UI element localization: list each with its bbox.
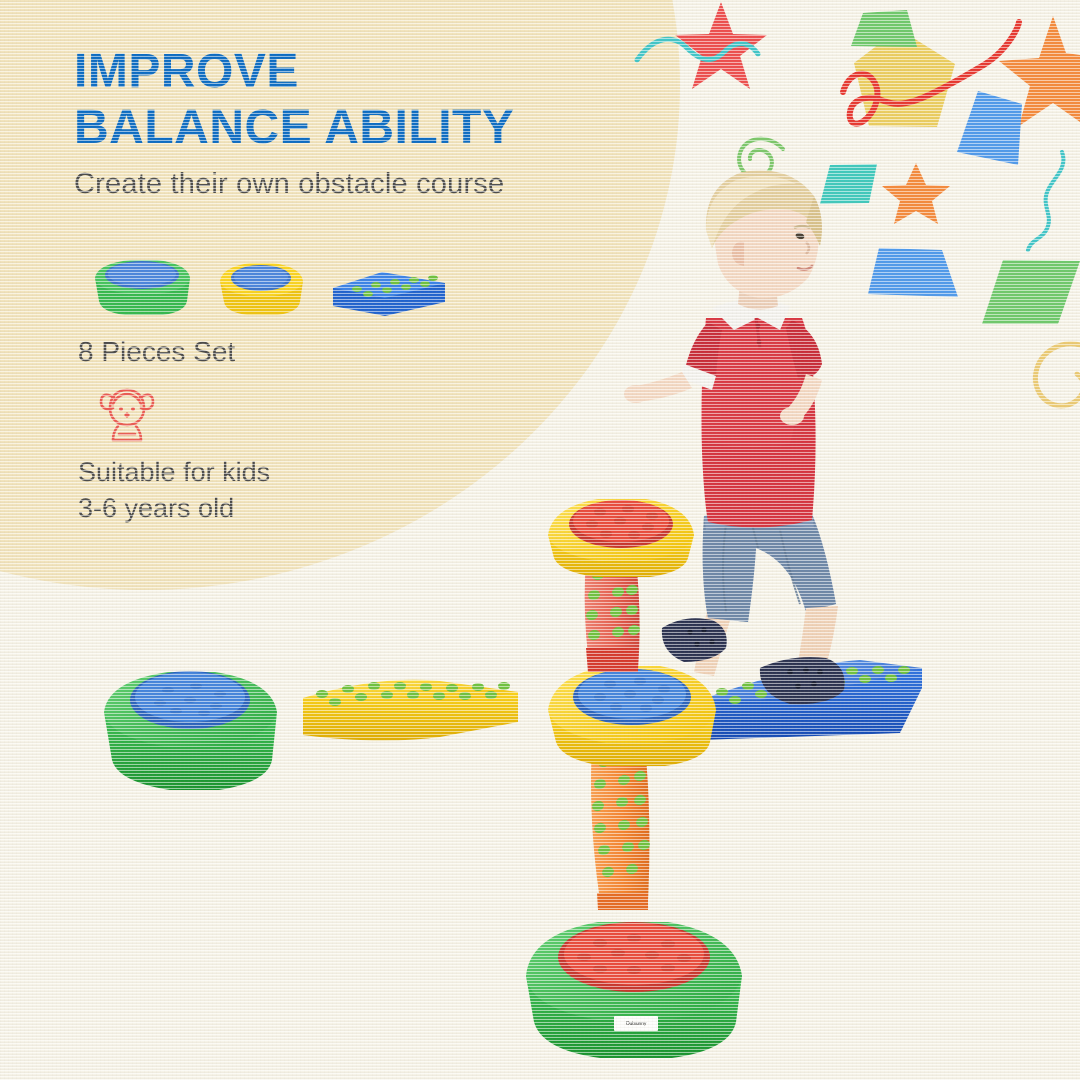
product-yellow-beam-left [303, 680, 518, 741]
child-balancing-figure [624, 170, 845, 704]
product-green-stone-left [104, 671, 277, 790]
marketing-banner: IMPROVE BALANCE ABILITY Create their own… [0, 0, 1080, 1080]
product-scene [0, 0, 1080, 1080]
product-yellow-stone-top [548, 499, 694, 577]
brand-logo-label: Outsunny [614, 1016, 658, 1031]
product-yellow-stone-middle [548, 666, 716, 766]
product-orange-beam-lower [591, 745, 652, 910]
product-green-stone-base [526, 922, 742, 1058]
